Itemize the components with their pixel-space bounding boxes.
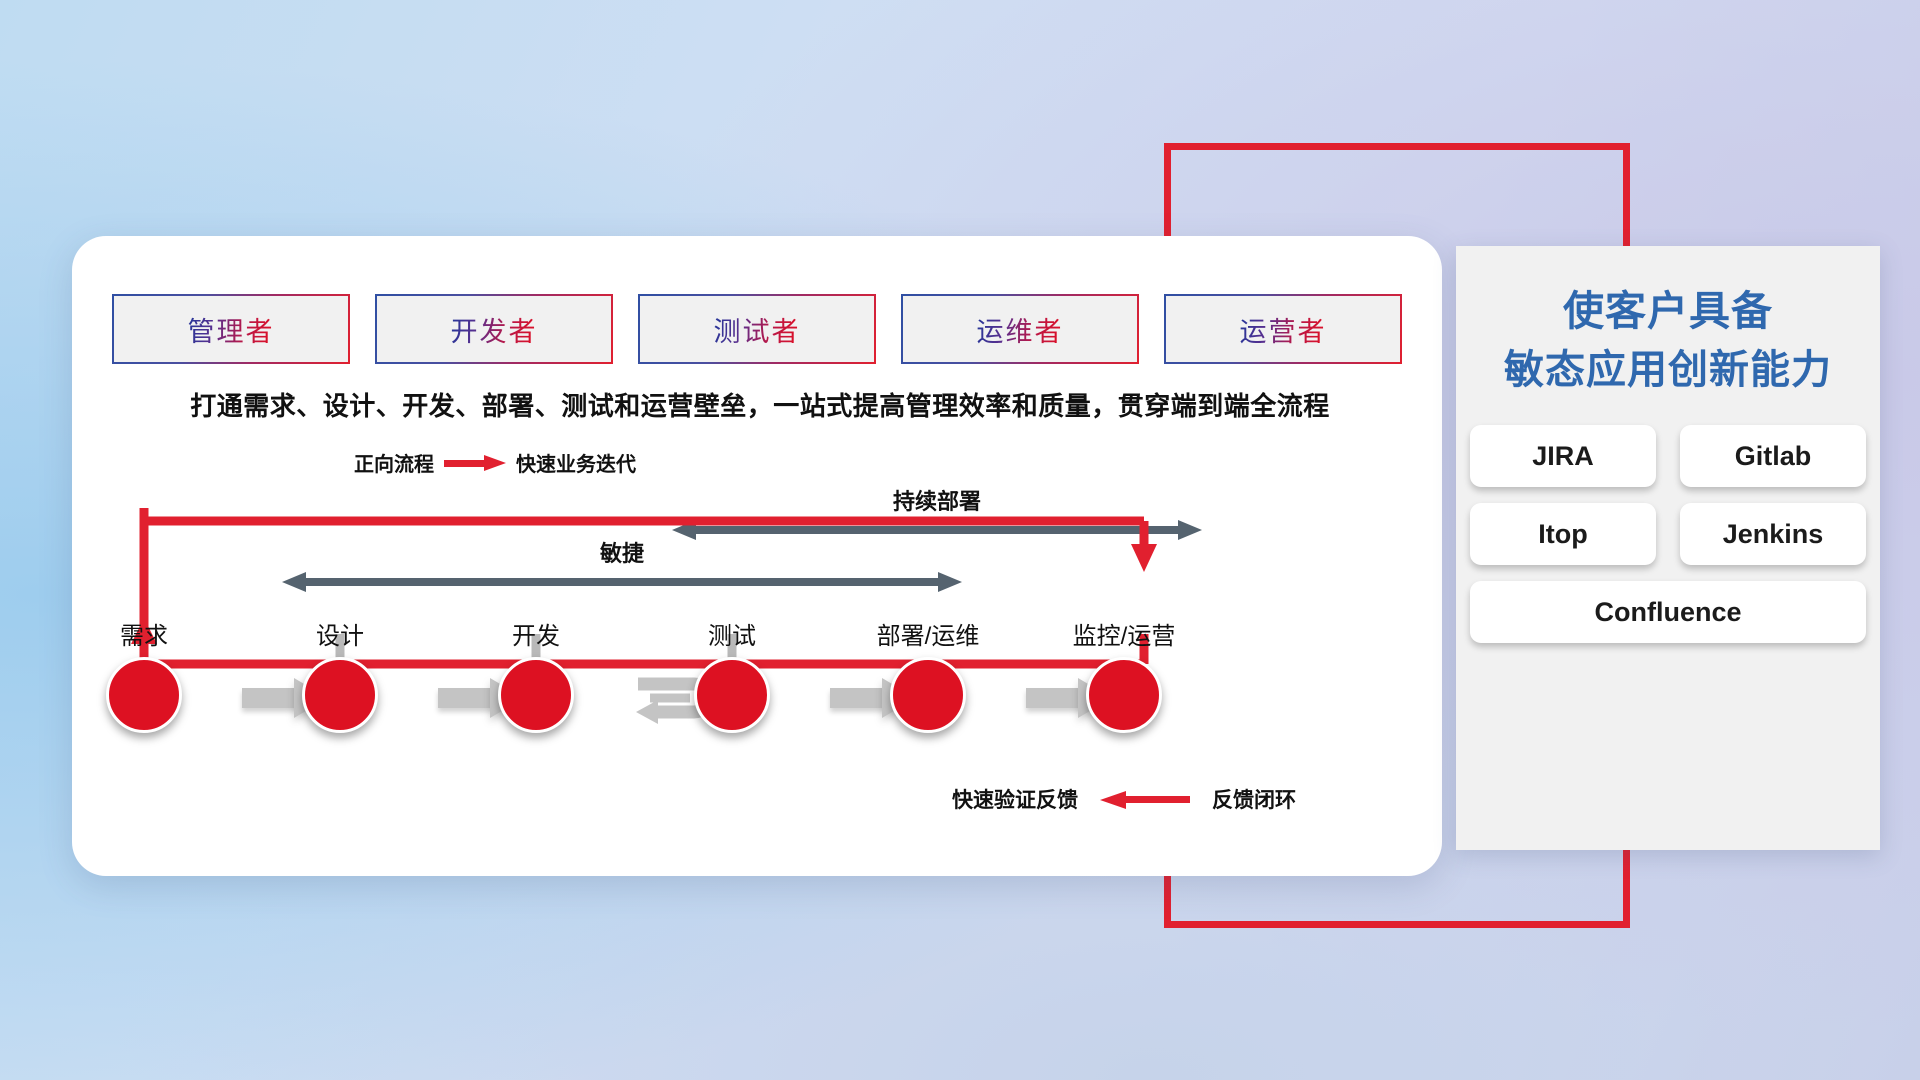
value-proposition-panel: 使客户具备 敏态应用创新能力 JIRA Gitlab Itop Jenkins … [1456,246,1880,850]
stage-dot [106,657,182,733]
stage-dot [1086,657,1162,733]
role-label: 管理者 [188,310,275,349]
arrow-bar [694,526,1180,534]
tool-chip-confluence[interactable]: Confluence [1470,581,1866,643]
tool-chip-label: Confluence [1594,597,1741,628]
card-description: 打通需求、设计、开发、部署、测试和运营壁垒，一站式提高管理效率和质量，贯穿端到端… [120,386,1400,423]
slide-canvas: 管理者 开发者 测试者 运维者 运营者 打通需求、设计、开发、部署、测试和运营壁… [0,0,1920,1080]
pipeline-stage-monitor-operations[interactable]: 监控/运营 [1064,616,1184,733]
legend-feedback-loop: 快速验证反馈 反馈闭环 [952,784,1296,814]
pipeline-stage-testing[interactable]: 测试 [672,616,792,733]
role-box-operations[interactable]: 运营者 [1164,294,1402,364]
role-box-tester[interactable]: 测试者 [638,294,876,364]
devops-card: 管理者 开发者 测试者 运维者 运营者 打通需求、设计、开发、部署、测试和运营壁… [72,236,1442,876]
stage-dot [694,657,770,733]
pipeline-stage-design[interactable]: 设计 [280,616,400,733]
role-label: 运营者 [1240,310,1327,349]
stage-label: 开发 [476,616,596,651]
panel-title-line2: 敏态应用创新能力 [1456,341,1880,399]
legend-forward-left-label: 正向流程 [354,448,434,477]
tool-chip-label: Itop [1538,519,1587,550]
panel-title-line1: 使客户具备 [1456,282,1880,341]
stage-label: 测试 [672,616,792,651]
role-box-developer[interactable]: 开发者 [375,294,613,364]
stage-dot [302,657,378,733]
legend-feedback-left-label: 快速验证反馈 [952,784,1078,814]
tool-chip-itop[interactable]: Itop [1470,503,1656,565]
arrow-head-left [282,572,306,592]
pipeline-stage-deploy-ops[interactable]: 部署/运维 [868,616,988,733]
tool-chip-jenkins[interactable]: Jenkins [1680,503,1866,565]
arrow-bar [304,578,940,586]
legend-feedback-right-label: 反馈闭环 [1212,784,1296,814]
tool-chip-label: Gitlab [1735,441,1812,472]
stage-label: 设计 [280,616,400,651]
tool-chip-label: JIRA [1532,441,1594,472]
band-agile: 敏捷 [282,536,962,592]
arrow-head-right [1178,520,1202,540]
role-box-ops[interactable]: 运维者 [901,294,1139,364]
role-box-manager[interactable]: 管理者 [112,294,350,364]
pipeline-stage-development[interactable]: 开发 [476,616,596,733]
arrow-right-red-icon [444,455,506,471]
stage-dot [498,657,574,733]
arrow-left-red-icon [1100,791,1190,807]
arrow-head-right [938,572,962,592]
band-agile-label: 敏捷 [282,536,962,568]
tool-chip-jira[interactable]: JIRA [1470,425,1656,487]
role-label: 开发者 [451,310,538,349]
panel-title: 使客户具备 敏态应用创新能力 [1456,246,1880,399]
stage-label: 需求 [84,616,204,651]
devops-pipeline: 需求 设计 开发 [124,616,1394,746]
stage-label: 部署/运维 [868,616,988,651]
double-arrow-icon [282,572,962,592]
role-label: 测试者 [714,310,801,349]
role-box-row: 管理者 开发者 测试者 运维者 运营者 [112,294,1402,364]
role-label: 运维者 [977,310,1064,349]
legend-forward-right-label: 快速业务迭代 [516,448,636,477]
tool-chip-label: Jenkins [1723,519,1824,550]
band-continuous-deployment-label: 持续部署 [672,484,1202,516]
legend-forward-flow: 正向流程 快速业务迭代 [354,448,636,477]
stage-dot [890,657,966,733]
tool-chip-list: JIRA Gitlab Itop Jenkins Confluence [1456,425,1880,643]
tool-chip-gitlab[interactable]: Gitlab [1680,425,1866,487]
band-continuous-deployment: 持续部署 [672,484,1202,540]
stage-label: 监控/运营 [1064,616,1184,651]
pipeline-stage-requirement[interactable]: 需求 [84,616,204,733]
